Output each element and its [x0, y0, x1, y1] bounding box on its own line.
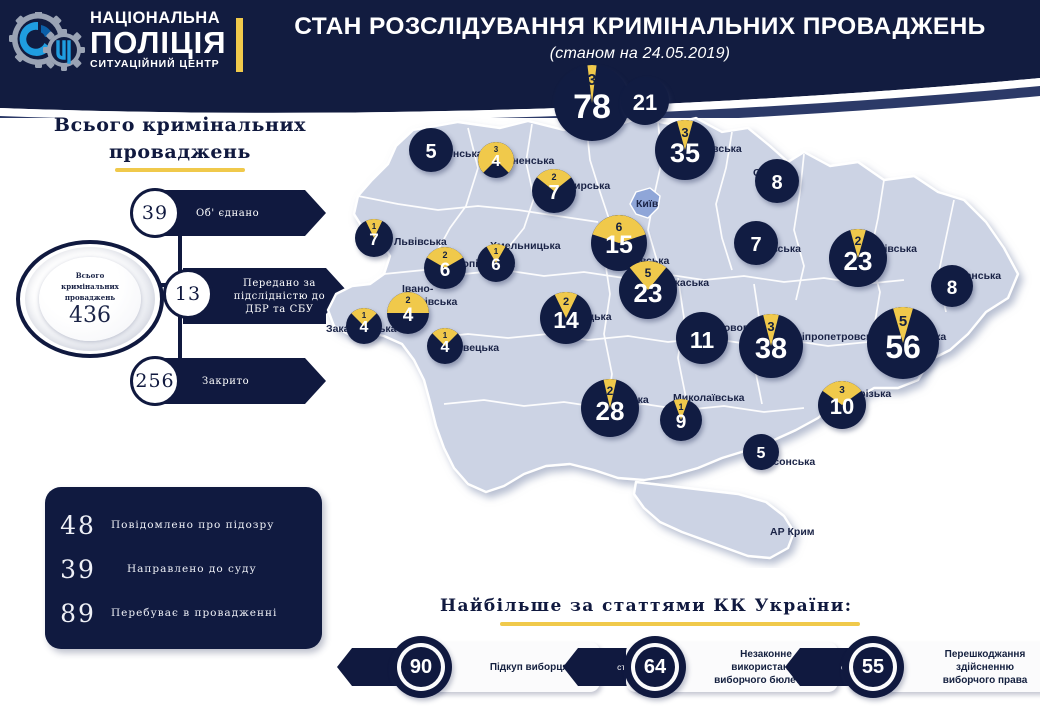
- bubble-highlight-value: 3: [818, 386, 866, 396]
- bubble-total-value: 6: [477, 256, 515, 273]
- tag-transferred-value: 13: [163, 269, 213, 319]
- bubble-highlight-value: 1: [427, 332, 463, 340]
- hub-total-value: 436: [69, 304, 111, 328]
- bottom-section-underline: [500, 622, 860, 626]
- map-bubble-одеська[interactable]: 228: [581, 379, 639, 437]
- tag-transferred-label: Передано за підслідністю до ДБР та СБУ: [227, 268, 332, 324]
- bubble-total-value: 14: [540, 309, 592, 332]
- ukraine-map: ВолинськаРівненськаЖитомирськаЛьвівськаТ…: [318, 88, 1040, 568]
- map-bubble-сумська[interactable]: 8: [755, 159, 799, 203]
- bubble-highlight-value: 3: [554, 73, 630, 89]
- map-bubble-черкаська[interactable]: 523: [619, 261, 677, 319]
- bubble-total-value: 28: [581, 398, 639, 424]
- bubble-total-value: 11: [676, 329, 728, 352]
- article-count-value: 64: [635, 647, 675, 687]
- article-card-3[interactable]: ст.15755Перешкоджанняздійсненнювиборчого…: [800, 636, 1040, 698]
- bubble-total-value: 4: [478, 154, 514, 170]
- page-title: СТАН РОЗСЛІДУВАННЯ КРИМІНАЛЬНИХ ПРОВАДЖЕ…: [270, 12, 1010, 42]
- bubble-highlight-value: 1: [346, 312, 382, 320]
- bubble-total-value: 4: [387, 306, 429, 325]
- article-description: Перешкоджанняздійсненнювиборчого права: [914, 642, 1040, 692]
- map-bubble-волинська[interactable]: 5: [409, 128, 453, 172]
- map-bubble-кіровоградська[interactable]: 11: [676, 312, 728, 364]
- bubble-highlight-value: 3: [478, 146, 514, 154]
- bubble-total-value: 9: [660, 413, 702, 432]
- status-label-ongoing: Перебуває в провадженні: [111, 607, 277, 619]
- map-label-ар-крим: АР Крим: [770, 526, 815, 538]
- bubble-total-value: 8: [755, 173, 799, 193]
- map-bubble-житомирська[interactable]: 27: [532, 169, 576, 213]
- hub-core: Всього кримінальних проваджень 436: [39, 257, 141, 341]
- left-panel-underline: [115, 168, 245, 172]
- status-value-suspicion: 48: [45, 511, 111, 540]
- header-content: НАЦІОНАЛЬНА ПОЛІЦІЯ СИТУАЦІЙНИЙ ЦЕНТР СТ…: [0, 0, 1040, 100]
- bubble-total-value: 5: [743, 446, 779, 462]
- bubble-highlight-value: 1: [477, 248, 515, 256]
- bubble-total-value: 4: [346, 320, 382, 336]
- status-label-suspicion: Повідомлено про підозру: [111, 519, 274, 531]
- bubble-highlight-value: 1: [660, 403, 702, 412]
- bubble-highlight-value: 1: [355, 223, 393, 231]
- map-bubble-тернопільська[interactable]: 26: [424, 247, 466, 289]
- bubble-total-value: 23: [619, 280, 677, 306]
- bubble-total-value: 38: [739, 335, 803, 364]
- status-label-court: Направлено до суду: [127, 563, 257, 575]
- bubble-total-value: 4: [427, 340, 463, 356]
- hub-label-line-1: Всього: [76, 270, 105, 281]
- tag-closed-value: 256: [130, 356, 180, 406]
- bubble-total-value: 78: [554, 90, 630, 124]
- map-bubble-полтавська[interactable]: 7: [734, 221, 778, 265]
- bubble-total-value: 8: [931, 279, 973, 298]
- page-subtitle: (станом на 24.05.2019): [270, 45, 1010, 63]
- status-value-ongoing: 89: [45, 599, 111, 628]
- case-status-box: 48 Повідомлено про підозру 39 Направлено…: [45, 487, 322, 649]
- title-block: СТАН РОЗСЛІДУВАННЯ КРИМІНАЛЬНИХ ПРОВАДЖЕ…: [270, 12, 1010, 63]
- map-bubble-нпу[interactable]: 378: [554, 65, 630, 141]
- bubble-highlight-value: 2: [532, 173, 576, 182]
- map-bubble-харківська[interactable]: 223: [829, 229, 887, 287]
- logo-text: НАЦІОНАЛЬНА ПОЛІЦІЯ СИТУАЦІЙНИЙ ЦЕНТР: [90, 10, 250, 71]
- bubble-total-value: 5: [409, 142, 453, 162]
- tag-closed[interactable]: 256 Закрито: [130, 358, 310, 404]
- map-bubble-херсонська[interactable]: 5: [743, 434, 779, 470]
- map-bubble-івано-франківська[interactable]: 24: [387, 292, 429, 334]
- left-panel-heading: Всього кримінальних проваджень: [30, 112, 330, 166]
- map-bubble-хмельницька[interactable]: 16: [477, 244, 515, 282]
- police-logo: НАЦІОНАЛЬНА ПОЛІЦІЯ СИТУАЦІЙНИЙ ЦЕНТР: [8, 10, 258, 76]
- tag-merged-label: Об' єднано: [196, 190, 292, 236]
- article-count-badge: 90: [390, 636, 452, 698]
- status-row-suspicion: 48 Повідомлено про підозру: [45, 505, 322, 545]
- article-description-line-1: Перешкоджання: [945, 648, 1026, 661]
- total-cases-hub: Всього кримінальних проваджень 436: [16, 240, 164, 358]
- map-bubble-вінницька[interactable]: 214: [540, 292, 592, 344]
- bubble-highlight-value: 2: [387, 296, 429, 305]
- map-bubble-луганська[interactable]: 8: [931, 265, 973, 307]
- map-bubble-чернівецька[interactable]: 14: [427, 328, 463, 364]
- tag-merged-value: 39: [130, 188, 180, 238]
- map-bubble-рівненська[interactable]: 34: [478, 142, 514, 178]
- map-bubble-дніпропетровська[interactable]: 338: [739, 314, 803, 378]
- map-label-київ: Київ: [636, 198, 658, 210]
- map-bubble-миколаївська[interactable]: 19: [660, 399, 702, 441]
- article-count-value: 90: [401, 647, 441, 687]
- bubble-highlight-value: 5: [619, 267, 677, 279]
- map-bubble-донецька[interactable]: 556: [867, 307, 939, 379]
- bubble-highlight-value: 2: [424, 251, 466, 260]
- hub-label-line-3: проваджень: [65, 292, 115, 303]
- infographic-root: НАЦІОНАЛЬНА ПОЛІЦІЯ СИТУАЦІЙНИЙ ЦЕНТР СТ…: [0, 0, 1040, 720]
- status-row-court: 39 Направлено до суду: [45, 549, 322, 589]
- bubble-total-value: 23: [829, 248, 887, 274]
- map-bubble-чернігівська[interactable]: 335: [655, 120, 715, 180]
- article-count-value: 55: [853, 647, 893, 687]
- bubble-total-value: 15: [591, 233, 647, 258]
- bubble-highlight-value: 3: [655, 126, 715, 139]
- bubble-total-value: 7: [355, 231, 393, 248]
- article-count-badge: 55: [842, 636, 904, 698]
- hub-label-line-2: кримінальних: [61, 281, 119, 292]
- map-bubble-львівська[interactable]: 17: [355, 219, 393, 257]
- bubble-total-value: 7: [532, 183, 576, 203]
- bubble-total-value: 35: [655, 140, 715, 167]
- bubble-highlight-value: 6: [591, 221, 647, 233]
- bubble-highlight-value: 2: [581, 385, 639, 397]
- status-value-court: 39: [45, 555, 111, 584]
- logo-line-2: ПОЛІЦІЯ: [90, 27, 250, 58]
- map-bubble-закарпатська[interactable]: 14: [346, 308, 382, 344]
- bottom-section-title: Найбільше за статтями КК України:: [440, 596, 852, 616]
- logo-divider-bar: [236, 18, 243, 72]
- article-count-badge: 64: [624, 636, 686, 698]
- bubble-total-value: 7: [734, 235, 778, 255]
- bubble-highlight-value: 2: [540, 297, 592, 308]
- article-description-line-3: виборчого права: [943, 674, 1028, 687]
- article-description-line-2: здійсненню: [956, 661, 1014, 674]
- tag-merged[interactable]: 39 Об' єднано: [130, 190, 310, 236]
- map-bubble-запорізька[interactable]: 310: [818, 381, 866, 429]
- article-description-line-1: Підкуп виборця: [490, 661, 568, 674]
- bubble-total-value: 56: [867, 331, 939, 363]
- status-row-ongoing: 89 Перебуває в провадженні: [45, 593, 322, 633]
- bubble-total-value: 6: [424, 261, 466, 280]
- gear-icon: [8, 12, 86, 72]
- bubble-total-value: 10: [818, 396, 866, 418]
- bubble-highlight-value: 3: [739, 320, 803, 333]
- tag-transferred[interactable]: 13 Передано за підслідністю до ДБР та СБ…: [163, 268, 338, 324]
- bubble-highlight-value: 2: [829, 235, 887, 247]
- tag-closed-label: Закрито: [202, 358, 292, 404]
- bubble-total-value: 21: [621, 92, 669, 114]
- bubble-highlight-value: 5: [867, 314, 939, 329]
